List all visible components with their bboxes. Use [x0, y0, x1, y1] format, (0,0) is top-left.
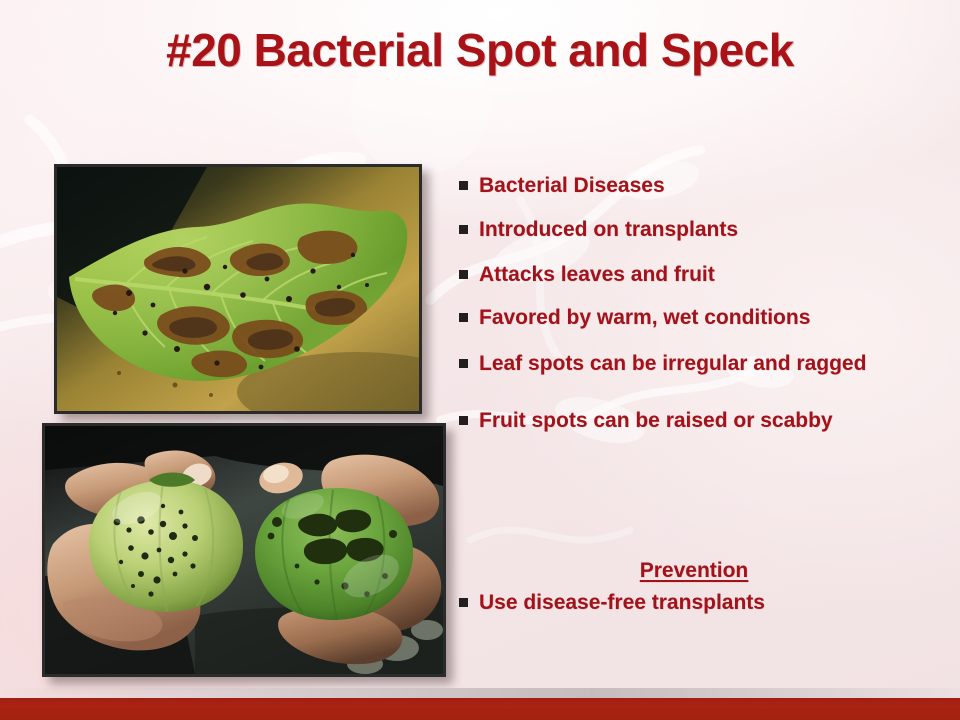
square-bullet-icon [459, 181, 468, 190]
bullet-label: Bacterial Diseases [479, 172, 951, 199]
page-title: #20 Bacterial Spot and Speck [0, 22, 960, 78]
bullet-label: Attacks leaves and fruit [479, 261, 951, 288]
square-bullet-icon [459, 416, 468, 425]
prevention-section: Prevention Use disease-free transplants [459, 558, 929, 616]
bullet-label: Leaf spots can be irregular and ragged [479, 350, 951, 377]
bullet-label: Introduced on transplants [479, 216, 951, 243]
list-item: Bacterial Diseases [459, 172, 951, 199]
square-bullet-icon [459, 270, 468, 279]
bullet-label: Fruit spots can be raised or scabby [479, 407, 951, 434]
square-bullet-icon [459, 598, 468, 607]
square-bullet-icon [459, 225, 468, 234]
square-bullet-icon [459, 313, 468, 322]
leaf-photo [54, 164, 422, 414]
bullet-list: Bacterial Diseases Introduced on transpl… [459, 172, 951, 434]
list-item: Favored by warm, wet conditions [459, 304, 951, 331]
list-item: Fruit spots can be raised or scabby [459, 407, 951, 434]
fruit-photo [42, 423, 446, 677]
list-item: Use disease-free transplants [459, 589, 929, 616]
bottom-accent-bar [0, 698, 960, 720]
list-item: Attacks leaves and fruit [459, 261, 951, 288]
list-item: Leaf spots can be irregular and ragged [459, 350, 951, 377]
list-item: Introduced on transplants [459, 216, 951, 243]
bottom-shadow-strip [0, 688, 960, 698]
bullet-label: Favored by warm, wet conditions [479, 304, 951, 331]
slide: #20 Bacterial Spot and Speck [0, 0, 960, 720]
square-bullet-icon [459, 359, 468, 368]
bullet-label: Use disease-free transplants [479, 589, 929, 616]
prevention-heading: Prevention [459, 558, 929, 584]
